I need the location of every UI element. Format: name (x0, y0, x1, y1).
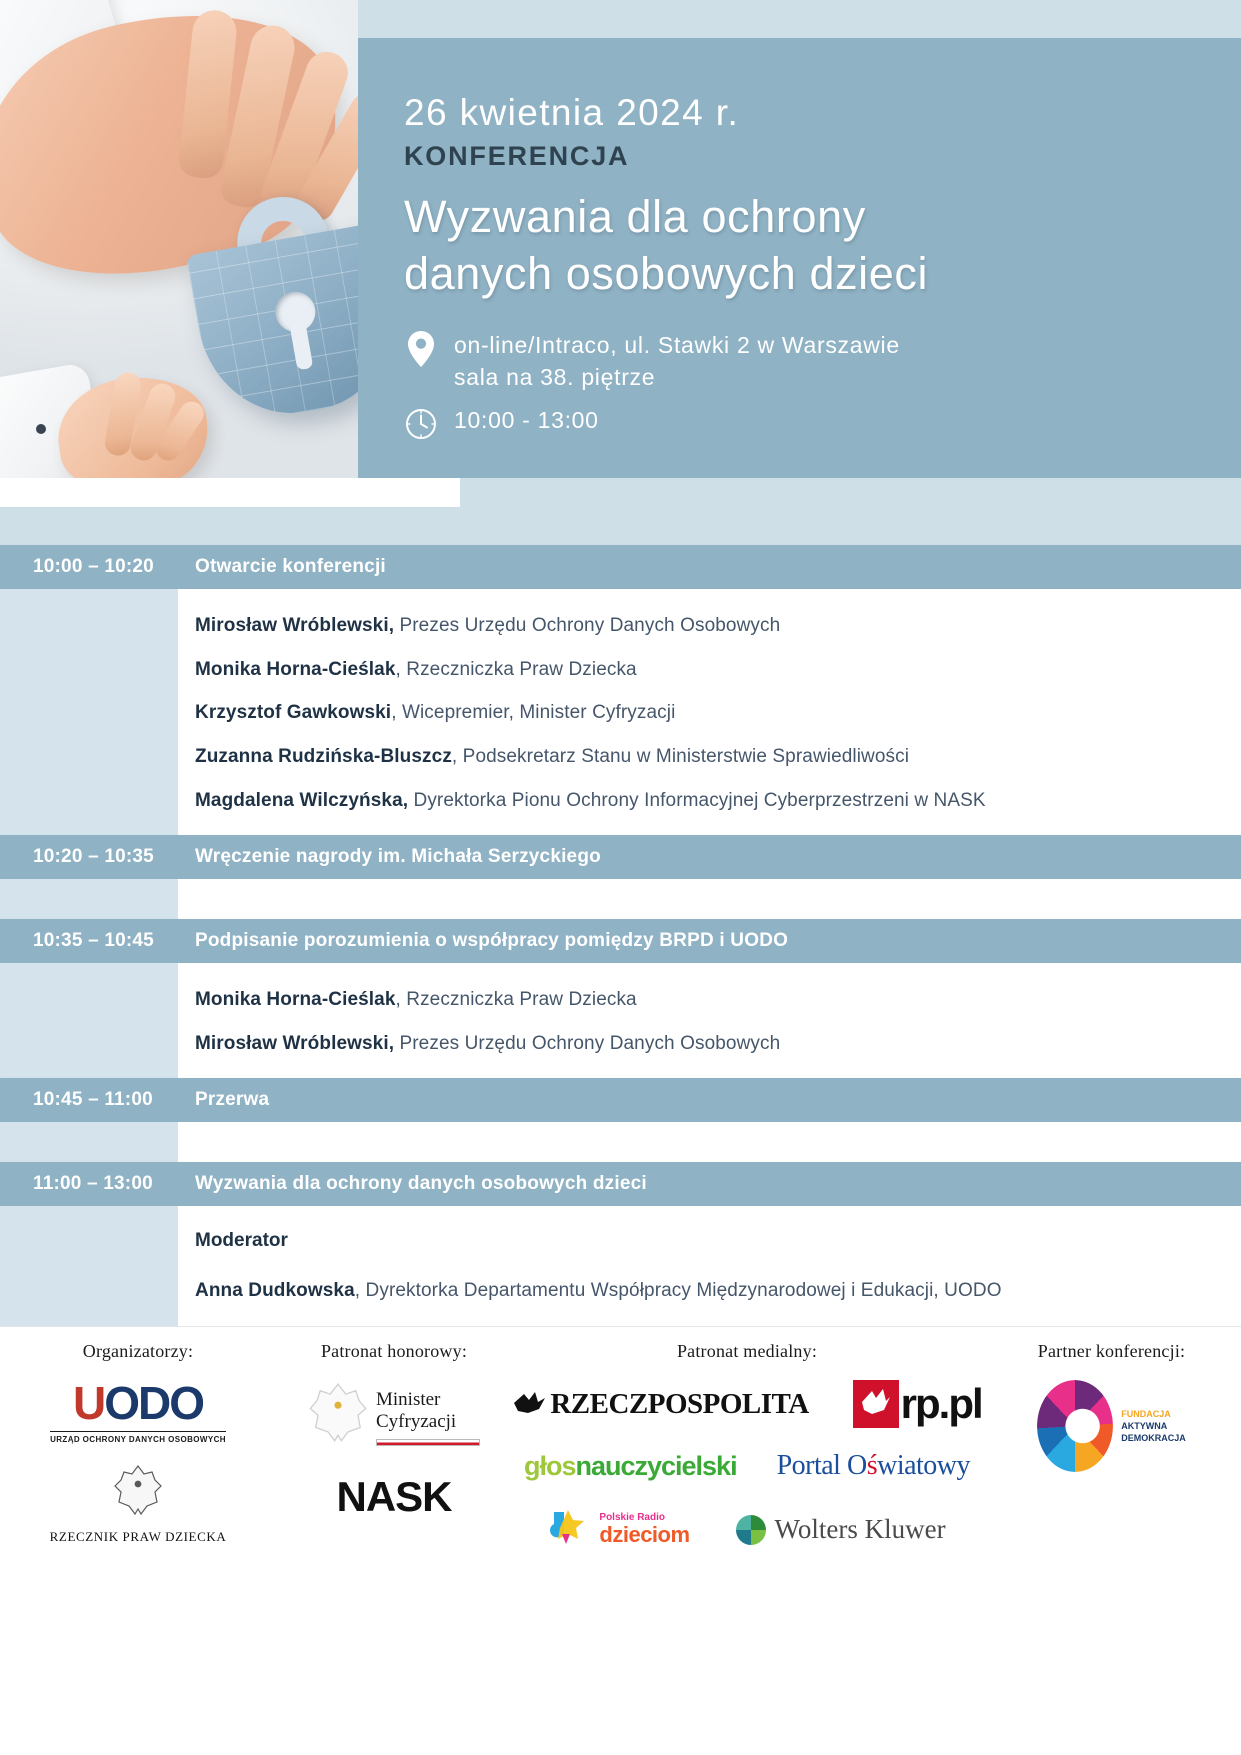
speaker-line: Zuzanna Rudzińska-Bluszcz, Podsekretarz … (195, 744, 1201, 770)
event-location-line-2: sala na 38. piętrze (454, 364, 655, 390)
speaker-role: , Rzeczniczka Praw Dziecka (396, 659, 637, 680)
event-location-text: on-line/Intraco, ul. Stawki 2 w Warszawi… (454, 329, 900, 394)
program-row-time: 10:35 – 10:45 (0, 930, 195, 952)
nask-logo: NASK (336, 1473, 451, 1521)
speaker-role: , Podsekretarz Stanu w Ministerstwie Spr… (452, 746, 909, 767)
program-row-title: Przerwa (195, 1089, 269, 1111)
program-row-title: Wyzwania dla ochrony danych osobowych dz… (195, 1173, 647, 1195)
uodo-letter-u: U (73, 1377, 104, 1429)
speaker-role: , Wicepremier, Minister Cyfryzacji (391, 702, 675, 723)
uodo-wordmark: UODO (50, 1380, 226, 1426)
speaker-name: Monika Horna-Cieślak (195, 989, 396, 1010)
child-cuff-button (36, 424, 46, 434)
hero-content: 26 kwietnia 2024 r. KONFERENCJA Wyzwania… (404, 92, 1104, 454)
program-row-header: 10:45 – 11:00 Przerwa (0, 1078, 1241, 1122)
footer-caption-media: Patronat medialny: (512, 1341, 982, 1362)
speaker-role: , Dyrektorka Departamentu Współpracy Mię… (355, 1280, 1002, 1301)
portal-part-1: Portal O (777, 1450, 867, 1481)
footer-caption-honorary: Patronat honorowy: (276, 1341, 512, 1362)
minister-line-1: Minister (376, 1389, 440, 1410)
program-row-body: Monika Horna-Cieślak, Rzeczniczka Praw D… (0, 963, 1241, 1078)
fundacja-line-2: AKTYWNA (1121, 1420, 1186, 1432)
event-title-line-2: danych osobowych dzieci (404, 245, 1104, 303)
portal-flame: ś (867, 1450, 877, 1481)
wolters-kluwer-globe-icon (736, 1515, 766, 1545)
program-row-time: 11:00 – 13:00 (0, 1173, 195, 1195)
footer-column-organizers: Organizatorzy: UODO URZĄD OCHRONY DANYCH… (0, 1341, 276, 1545)
speaker-role: Prezes Urzędu Ochrony Danych Osobowych (394, 615, 780, 636)
footer-logos: Organizatorzy: UODO URZĄD OCHRONY DANYCH… (0, 1326, 1241, 1555)
uodo-letter-o2: O (169, 1377, 203, 1429)
portal-oswiatowy-logo: Portal Oświatowy (777, 1450, 970, 1482)
fundacja-aktywna-demokracja-logo: FUNDACJA AKTYWNA DEMOKRACJA (1037, 1380, 1186, 1472)
event-time-text: 10:00 - 13:00 (454, 404, 599, 437)
speaker-name: Mirosław Wróblewski, (195, 615, 394, 636)
rppl-wordmark: rp.pl (901, 1380, 982, 1428)
conference-poster: 26 kwietnia 2024 r. KONFERENCJA Wyzwania… (0, 0, 1241, 1755)
eagle-bird-icon (512, 1389, 546, 1419)
speaker-role: Dyrektorka Pionu Ochrony Informacyjnej C… (408, 790, 986, 811)
event-meta: on-line/Intraco, ul. Stawki 2 w Warszawi… (404, 329, 1104, 444)
speaker-name: Krzysztof Gawkowski (195, 702, 391, 723)
fundacja-line-3: DEMOKRACJA (1121, 1432, 1186, 1444)
clock-icon (404, 404, 438, 444)
program-row-title: Podpisanie porozumienia o współpracy pom… (195, 930, 788, 952)
speaker-line: Mirosław Wróblewski, Prezes Urzędu Ochro… (195, 613, 1201, 639)
program-row-header: 10:20 – 10:35 Wręczenie nagrody im. Mich… (0, 835, 1241, 879)
rzecznik-praw-dziecka-text: RZECZNIK PRAW DZIECKA (50, 1529, 227, 1545)
fundacja-line-1: FUNDACJA (1121, 1408, 1186, 1420)
fundacja-text: FUNDACJA AKTYWNA DEMOKRACJA (1121, 1408, 1186, 1444)
polish-eagle-icon (308, 1380, 368, 1455)
program-row-header: 10:35 – 10:45 Podpisanie porozumienia o … (0, 919, 1241, 963)
speaker-line: Krzysztof Gawkowski, Wicepremier, Minist… (195, 700, 1201, 726)
footer-caption-partner: Partner konferencji: (982, 1341, 1241, 1362)
event-kicker: KONFERENCJA (404, 141, 1104, 172)
footer-column-honorary: Patronat honorowy: Minister Cyfryzacji (276, 1341, 512, 1521)
rzecznik-praw-dziecka-logo: RZECZNIK PRAW DZIECKA (50, 1462, 227, 1545)
program-row-title: Wręczenie nagrody im. Michała Serzyckieg… (195, 846, 601, 868)
glos-part-1: głos (524, 1451, 576, 1481)
glos-part-2: nauczycielski (575, 1451, 736, 1481)
speaker-role: , Rzeczniczka Praw Dziecka (396, 989, 637, 1010)
rzeczpospolita-wordmark: RZECZPOSPOLITA (550, 1388, 808, 1421)
glos-nauczycielski-logo: głosnauczycielski (524, 1451, 737, 1482)
moderator-label: Moderator (195, 1230, 1201, 1252)
speaker-name: Magdalena Wilczyńska, (195, 790, 408, 811)
program-row-time: 10:45 – 11:00 (0, 1089, 195, 1111)
speaker-line: Monika Horna-Cieślak, Rzeczniczka Praw D… (195, 657, 1201, 683)
program-row-body: Mirosław Wróblewski, Prezes Urzędu Ochro… (0, 589, 1241, 835)
speaker-line: Magdalena Wilczyńska, Dyrektorka Pionu O… (195, 788, 1201, 814)
event-location-line-1: on-line/Intraco, ul. Stawki 2 w Warszawi… (454, 332, 900, 358)
uodo-logo: UODO URZĄD OCHRONY DANYCH OSOBOWYCH (50, 1380, 226, 1444)
event-date: 26 kwietnia 2024 r. (404, 92, 1104, 135)
uodo-letter-d: D (138, 1377, 169, 1429)
uodo-subtitle: URZĄD OCHRONY DANYCH OSOBOWYCH (50, 1431, 226, 1444)
speaker-line: Mirosław Wróblewski, Prezes Urzędu Ochro… (195, 1031, 1201, 1057)
program-row-header: 10:00 – 10:20 Otwarcie konferencji (0, 545, 1241, 589)
speaker-name: Anna Dudkowska (195, 1280, 355, 1301)
rzeczpospolita-logo: RZECZPOSPOLITA (512, 1388, 808, 1421)
event-title: Wyzwania dla ochrony danych osobowych dz… (404, 188, 1104, 303)
wolters-kluwer-logo: Wolters Kluwer (736, 1514, 946, 1545)
hero-white-strip (0, 478, 460, 507)
program-row-time: 10:00 – 10:20 (0, 556, 195, 578)
speaker-name: Mirosław Wróblewski, (195, 1033, 394, 1054)
program-row-time: 10:20 – 10:35 (0, 846, 195, 868)
radio-line-2: dzieciom (599, 1523, 689, 1547)
minister-cyfryzacji-text: Minister Cyfryzacji (376, 1389, 480, 1446)
uodo-letter-o1: O (104, 1377, 138, 1429)
portal-part-2: wiatowy (877, 1450, 970, 1481)
polish-flag-bar-icon (376, 1439, 480, 1446)
event-time-row: 10:00 - 13:00 (404, 404, 1104, 444)
polskie-radio-dzieciom-logo: Polskie Radio dzieciom (548, 1504, 689, 1555)
minister-cyfryzacji-logo: Minister Cyfryzacji (308, 1380, 480, 1455)
speaker-name: Zuzanna Rudzińska-Bluszcz (195, 746, 452, 767)
speaker-line: Monika Horna-Cieślak, Rzeczniczka Praw D… (195, 987, 1201, 1013)
radio-kids-icon (548, 1504, 592, 1555)
program-row-spacer (0, 1122, 1241, 1162)
hero-banner: 26 kwietnia 2024 r. KONFERENCJA Wyzwania… (0, 0, 1241, 545)
radio-kids-text: Polskie Radio dzieciom (599, 1512, 689, 1547)
program-row-spacer (0, 879, 1241, 919)
speaker-name: Monika Horna-Cieślak (195, 659, 396, 680)
hero-bottom-band (0, 507, 1241, 545)
footer-caption-organizers: Organizatorzy: (0, 1341, 276, 1362)
fundacja-burst-icon (1037, 1380, 1113, 1472)
event-title-line-1: Wyzwania dla ochrony (404, 188, 1104, 246)
speaker-role: Prezes Urzędu Ochrony Danych Osobowych (394, 1033, 780, 1054)
speaker-line: Anna Dudkowska, Dyrektorka Departamentu … (195, 1278, 1201, 1304)
program-schedule: 10:00 – 10:20 Otwarcie konferencji Miros… (0, 545, 1241, 1326)
rppl-logo: rp.pl (853, 1380, 982, 1428)
polish-eagle-icon (50, 1462, 227, 1527)
minister-line-2: Cyfryzacji (376, 1411, 456, 1432)
program-row-header: 11:00 – 13:00 Wyzwania dla ochrony danyc… (0, 1162, 1241, 1206)
map-pin-icon (404, 329, 438, 369)
footer-column-partner: Partner konferencji: FUNDACJA AKTYWNA DE… (982, 1341, 1241, 1472)
program-row-body: Moderator Anna Dudkowska, Dyrektorka Dep… (0, 1206, 1241, 1326)
program-row-title: Otwarcie konferencji (195, 556, 386, 578)
rppl-bird-icon (853, 1380, 899, 1428)
wolters-kluwer-text: Wolters Kluwer (775, 1514, 946, 1545)
event-location-row: on-line/Intraco, ul. Stawki 2 w Warszawi… (404, 329, 1104, 394)
footer-column-media: Patronat medialny: RZECZPOSPOLITA (512, 1341, 982, 1555)
